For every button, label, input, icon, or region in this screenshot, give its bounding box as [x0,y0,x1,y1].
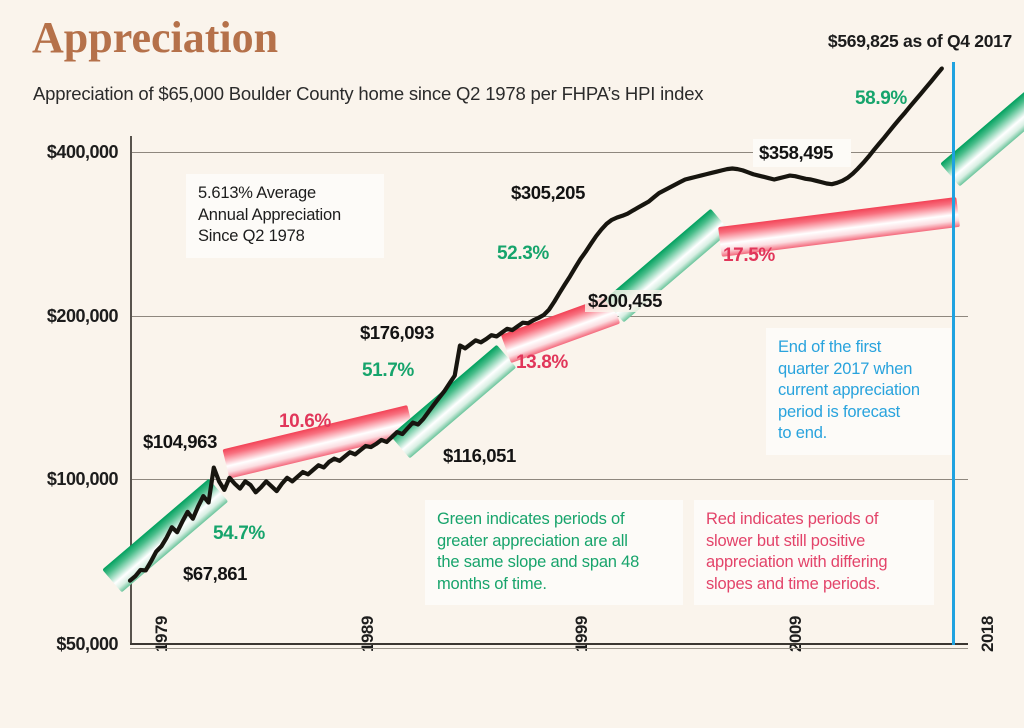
note-average-line1: 5.613% Average [198,183,372,205]
callout-pct-10-6: 10.6% [279,411,331,433]
x-tick-2018: 2018 [978,616,998,652]
note-average-appreciation: 5.613% Average Annual Appreciation Since… [186,174,384,258]
legend-green-line4: months of time. [437,574,671,596]
callout-value-116051: $116,051 [440,445,519,467]
y-tick-100000: $100,000 [0,469,118,490]
callout-value-67861: $67,861 [180,563,250,585]
y-tick-200000: $200,000 [0,306,118,327]
note-forecast-line4: period is forecast [778,402,939,424]
x-axis-line-secondary [130,648,968,649]
callout-pct-13-8: 13.8% [516,352,568,374]
legend-red-line3: appreciation with differing [706,552,922,574]
legend-green-line3: the same slope and span 48 [437,552,671,574]
note-forecast-line3: current appreciation [778,380,939,402]
legend-green-line1: Green indicates periods of [437,509,671,531]
callout-value-104963: $104,963 [140,431,220,453]
legend-red-line4: slopes and time periods. [706,574,922,596]
callout-pct-58-9: 58.9% [855,88,907,110]
y-tick-400000: $400,000 [0,142,118,163]
callout-pct-52-3: 52.3% [497,243,549,265]
note-forecast-line2: quarter 2017 when [778,359,939,381]
callout-value-305205: $305,205 [508,182,588,204]
note-forecast: End of the first quarter 2017 when curre… [766,328,951,455]
final-value-callout: $569,825 as of Q4 2017 [828,31,1012,52]
legend-red: Red indicates periods of slower but stil… [694,500,934,605]
legend-green: Green indicates periods of greater appre… [425,500,683,605]
note-forecast-line5: to end. [778,423,939,445]
chart-page: Appreciation Appreciation of $65,000 Bou… [0,0,1024,728]
legend-red-line2: slower but still positive [706,531,922,553]
callout-value-200455: $200,455 [585,290,665,312]
callout-pct-51-7: 51.7% [362,360,414,382]
callout-value-358495: $358,495 [753,139,851,167]
callout-pct-54-7: 54.7% [213,523,265,545]
page-title: Appreciation [32,16,278,60]
note-average-line3: Since Q2 1978 [198,226,372,248]
note-forecast-line1: End of the first [778,337,939,359]
chart-subtitle: Appreciation of $65,000 Boulder County h… [33,83,703,105]
legend-green-line2: greater appreciation are all [437,531,671,553]
callout-pct-17-5: 17.5% [723,245,775,267]
note-average-line2: Annual Appreciation [198,205,372,227]
y-tick-50000: $50,000 [0,634,118,655]
callout-value-176093: $176,093 [357,322,437,344]
legend-red-line1: Red indicates periods of [706,509,922,531]
